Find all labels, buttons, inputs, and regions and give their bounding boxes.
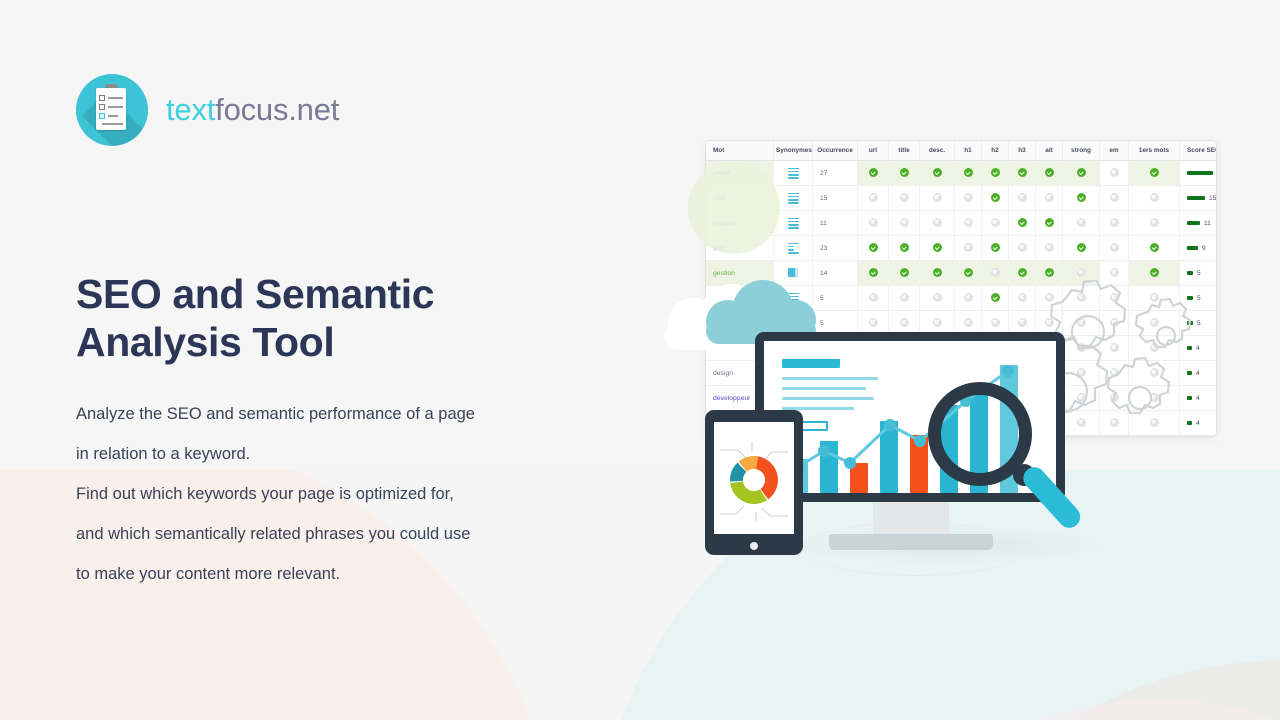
cell-flag [1100, 211, 1129, 236]
seo-illustration: MotSynonymesOccurrenceurltitledesc.h1h2h… [660, 110, 1280, 630]
cell-flag [982, 236, 1009, 261]
column-header-occurrence[interactable]: Occurrence [813, 141, 858, 161]
cell-flag [1063, 211, 1100, 236]
headline-line-2: Analysis Tool [76, 319, 334, 365]
magnifying-glass-icon [928, 382, 1088, 542]
cell-flag [889, 186, 920, 211]
chart-point [844, 457, 856, 469]
page-root: textfocus.net SEO and Semantic Analysis … [0, 0, 1280, 720]
column-header-h3[interactable]: h3 [1009, 141, 1036, 161]
cell-flag [1129, 236, 1180, 261]
cell-flag [889, 161, 920, 186]
cell-flag [889, 236, 920, 261]
column-header-alt[interactable]: alt [1036, 141, 1063, 161]
column-header-1ers-mots[interactable]: 1ers mots [1129, 141, 1180, 161]
cell-flag [1009, 186, 1036, 211]
cell-flag [982, 211, 1009, 236]
cell-flag [858, 186, 889, 211]
description-line: in relation to a keyword. [76, 434, 636, 474]
cell-flag [955, 186, 982, 211]
description-line: Analyze the SEO and semantic performance… [76, 394, 636, 434]
cell-score-seo: 11 [1180, 211, 1218, 236]
hero-left-column: textfocus.net SEO and Semantic Analysis … [76, 70, 636, 594]
cell-flag [1036, 211, 1063, 236]
table-row[interactable]: projet2722 [706, 161, 1217, 186]
cell-flag [1063, 236, 1100, 261]
cell-flag [858, 286, 889, 311]
table-row[interactable]: chef1515 [706, 186, 1217, 211]
cell-flag [1100, 236, 1129, 261]
cell-flag [982, 161, 1009, 186]
cell-flag [1129, 161, 1180, 186]
chart-point [818, 445, 830, 457]
donut-chart [714, 422, 794, 534]
cell-flag [1129, 211, 1180, 236]
cell-score-seo: 22 [1180, 161, 1218, 186]
cell-flag [955, 161, 982, 186]
cell-synonyms[interactable] [774, 236, 813, 261]
cell-flag [858, 211, 889, 236]
column-header-mot[interactable]: Mot [706, 141, 774, 161]
column-header-em[interactable]: em [1100, 141, 1129, 161]
cell-flag [955, 261, 982, 286]
cell-synonyms[interactable] [774, 161, 813, 186]
cell-flag [1129, 186, 1180, 211]
brand-name-part-b: focus.net [215, 92, 339, 127]
column-header-desc-[interactable]: desc. [920, 141, 955, 161]
table-header-row: MotSynonymesOccurrenceurltitledesc.h1h2h… [706, 141, 1217, 161]
brand-name-part-a: text [166, 92, 215, 127]
cell-flag [955, 236, 982, 261]
tablet-device [705, 410, 803, 555]
cell-flag [889, 286, 920, 311]
cell-flag [1036, 186, 1063, 211]
cell-flag [858, 161, 889, 186]
cell-flag [920, 211, 955, 236]
column-header-h1[interactable]: h1 [955, 141, 982, 161]
cell-flag [920, 261, 955, 286]
cell-flag [1009, 236, 1036, 261]
table-row[interactable]: web239 [706, 236, 1217, 261]
brand-wordmark: textfocus.net [166, 92, 339, 128]
column-header-strong[interactable]: strong [1063, 141, 1100, 161]
chart-point [1002, 365, 1014, 377]
cell-flag [920, 236, 955, 261]
cell-flag [1063, 186, 1100, 211]
description-line: and which semantically related phrases y… [76, 514, 636, 554]
cell-flag [1009, 161, 1036, 186]
cell-flag [1036, 236, 1063, 261]
cell-flag [1100, 186, 1129, 211]
cell-flag [982, 186, 1009, 211]
cell-flag [858, 236, 889, 261]
cell-flag [889, 211, 920, 236]
cell-score-seo: 15 [1180, 186, 1218, 211]
cell-score-seo: 9 [1180, 236, 1218, 261]
column-header-url[interactable]: url [858, 141, 889, 161]
cell-flag [858, 261, 889, 286]
gear-highlight-circle [688, 162, 780, 254]
brand-logo[interactable]: textfocus.net [76, 70, 636, 150]
cell-flag [955, 211, 982, 236]
hero-description: Analyze the SEO and semantic performance… [76, 394, 636, 594]
tablet-screen [714, 422, 794, 534]
column-header-synonymes[interactable]: Synonymes [774, 141, 813, 161]
cell-flag [1036, 161, 1063, 186]
cell-occurrence: 27 [813, 161, 858, 186]
cell-flag [1063, 161, 1100, 186]
column-header-h2[interactable]: h2 [982, 141, 1009, 161]
cell-occurrence: 11 [813, 211, 858, 236]
cell-flag [1100, 161, 1129, 186]
cell-flag [920, 161, 955, 186]
cell-flag [955, 286, 982, 311]
cell-flag [920, 286, 955, 311]
headline-line-1: SEO and Semantic [76, 271, 434, 317]
clipboard-checklist-icon [76, 74, 148, 146]
table-row[interactable]: métiers1111 [706, 211, 1217, 236]
column-header-score-seo[interactable]: Score SEO [1180, 141, 1218, 161]
chart-point [884, 419, 896, 431]
page-title: SEO and Semantic Analysis Tool [76, 270, 636, 366]
cell-flag [889, 261, 920, 286]
column-header-title[interactable]: title [889, 141, 920, 161]
description-line: to make your content more relevant. [76, 554, 636, 594]
cell-flag [920, 186, 955, 211]
cell-flag [1009, 211, 1036, 236]
cell-occurrence: 15 [813, 186, 858, 211]
chart-point [914, 435, 926, 447]
description-line: Find out which keywords your page is opt… [76, 474, 636, 514]
cell-occurrence: 23 [813, 236, 858, 261]
